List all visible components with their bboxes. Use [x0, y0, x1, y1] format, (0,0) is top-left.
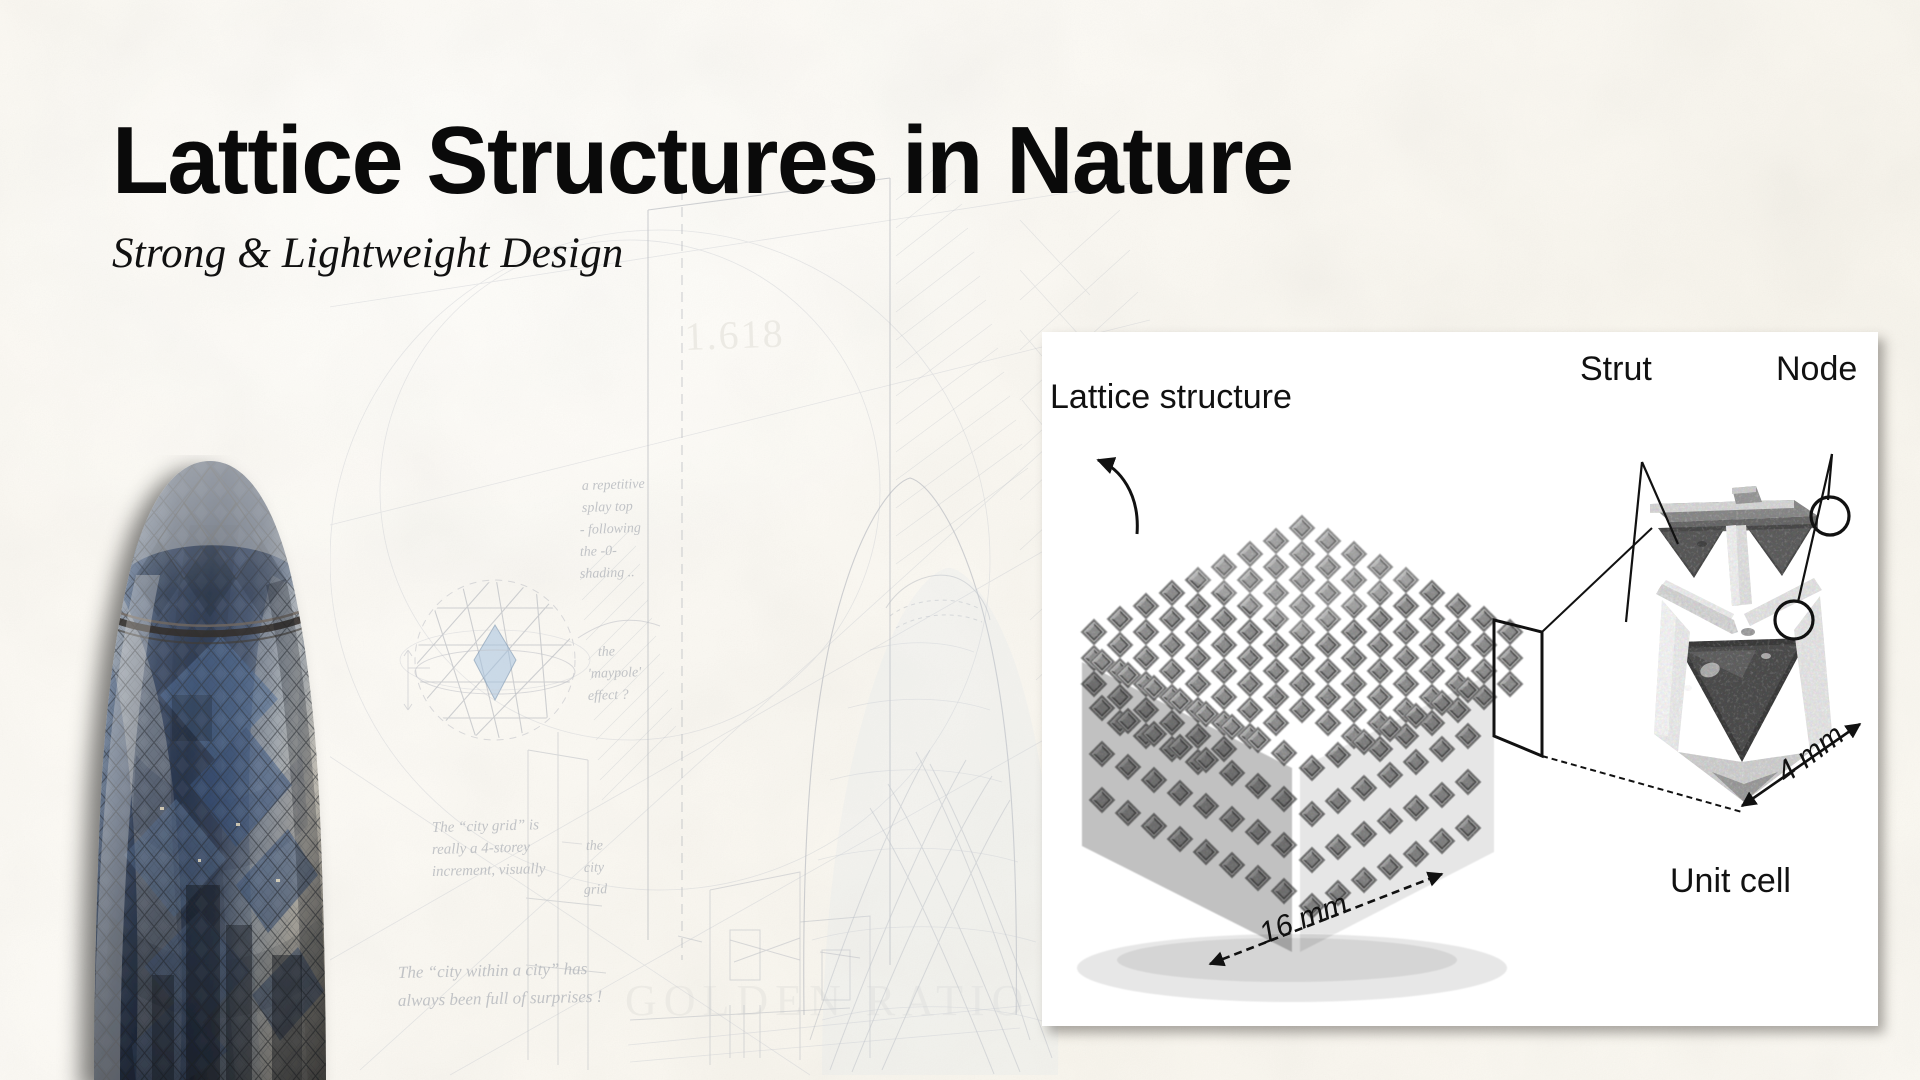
svg-text:the: the	[586, 838, 604, 854]
svg-text:grid: grid	[584, 882, 609, 898]
label-node: Node	[1776, 350, 1857, 388]
svg-text:increment, visually: increment, visually	[432, 861, 546, 880]
svg-text:- following: - following	[580, 521, 642, 538]
svg-text:always been full of surprises: always been full of surprises !	[398, 987, 603, 1010]
sketch-note-city-within-city: The “city within a city” has always been…	[398, 959, 603, 1010]
svg-text:The “city within a city” has: The “city within a city” has	[398, 959, 588, 982]
page-subtitle: Strong & Lightweight Design	[112, 230, 1372, 277]
svg-text:really a 4-storey: really a 4-storey	[432, 839, 531, 858]
slide-canvas: .pl { fill:none; stroke:#b9bcc2; stroke-…	[0, 0, 1920, 1080]
faint-ratio-value-text: 1.618	[684, 311, 786, 359]
title-block: Lattice Structures in Nature Strong & Li…	[112, 112, 1372, 277]
faint-golden-ratio-text: GOLDEN RATIO	[625, 976, 1030, 1025]
gherkin-building-photo	[40, 455, 380, 1080]
svg-text:'maypole': 'maypole'	[588, 665, 643, 682]
svg-text:the -0-: the -0-	[580, 544, 618, 560]
svg-text:shading ..: shading ..	[580, 565, 635, 582]
svg-text:The “city grid” is: The “city grid” is	[432, 817, 540, 836]
page-title: Lattice Structures in Nature	[112, 112, 1334, 210]
svg-text:the: the	[598, 644, 616, 660]
sketch-note-city-grid: the city grid	[562, 838, 608, 898]
sketch-note-repetitive-splay: a repetitive splay top - following the -…	[580, 477, 645, 582]
sketch-note-maypole-effect: the 'maypole' effect ?	[588, 644, 643, 704]
sketch-note-city-grid-increment: The “city grid” is really a 4-storey inc…	[432, 817, 546, 880]
geodesic-dome-sketch	[392, 572, 660, 752]
label-lattice-structure: Lattice structure	[1050, 378, 1292, 416]
svg-text:splay top: splay top	[582, 499, 633, 516]
highlighted-lattice-panel	[474, 625, 516, 700]
gherkin-sketch	[804, 478, 1059, 1075]
svg-text:a repetitive: a repetitive	[582, 477, 645, 494]
label-strut: Strut	[1580, 350, 1652, 388]
lattice-diagram-panel: Lattice structure Strut Node Unit cell 4…	[1042, 332, 1878, 1026]
label-unit-cell: Unit cell	[1670, 862, 1791, 900]
svg-text:effect ?: effect ?	[588, 688, 629, 704]
svg-text:city: city	[584, 860, 606, 876]
